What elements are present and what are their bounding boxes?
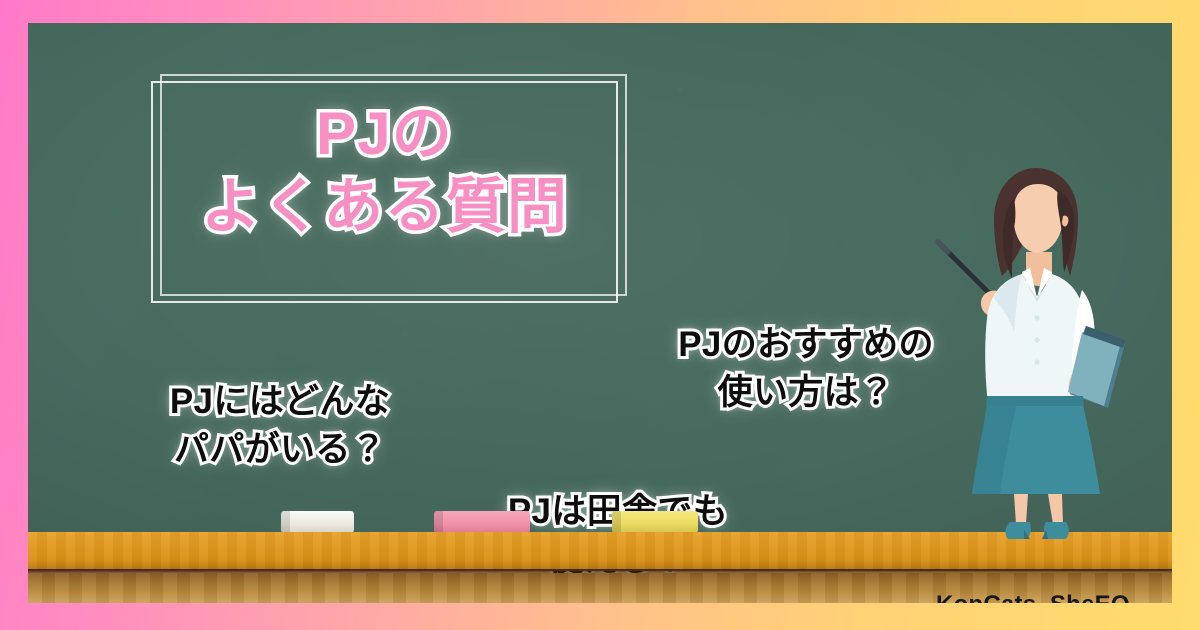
chalk-stick-yellow (612, 511, 698, 533)
chalk-stick-pink (434, 511, 530, 533)
watermark-label: KonCats_SheEO (936, 591, 1130, 603)
question-dads: PJにはどんな パパがいる？ (100, 378, 460, 475)
chalk-cap (434, 511, 443, 533)
thumbnail-canvas: PJの よくある質問 PJにはどんな パパがいる？ PJのおすすめの 使い方は？… (0, 0, 1200, 630)
pointer-stick-icon (938, 242, 992, 296)
teacher-illustration (930, 168, 1130, 550)
chalk-cap (612, 511, 621, 533)
page-title: PJの よくある質問 (151, 97, 618, 243)
chalk-cap (281, 511, 290, 533)
chalk-stick-white (281, 511, 354, 533)
